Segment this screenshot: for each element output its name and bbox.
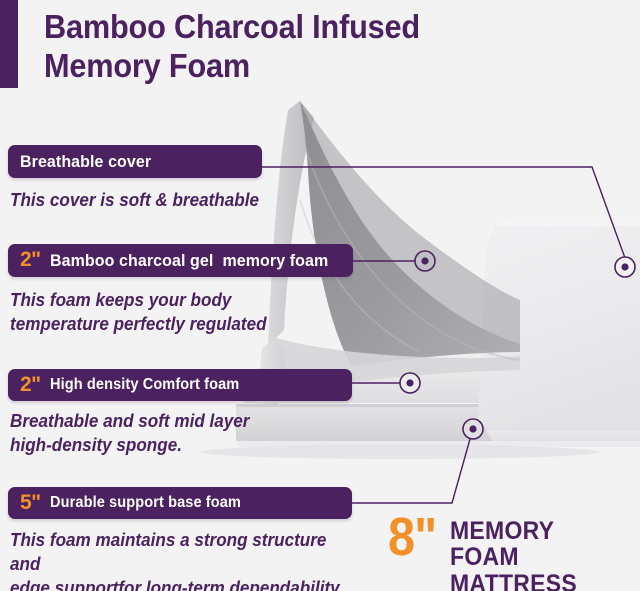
layer-size-badge: 2" bbox=[20, 374, 41, 395]
layer-description-breathable-cover: This cover is soft & breathable bbox=[10, 188, 295, 212]
infographic-canvas: Bamboo Charcoal Infused Memory Foam Brea… bbox=[0, 0, 640, 591]
layer-description-high-density-comfort: Breathable and soft mid layer high-densi… bbox=[10, 409, 295, 457]
layer-label-text: Bamboo charcoal gel memory foam bbox=[50, 251, 328, 271]
product-name-label: MEMORY FOAM MATTRESS bbox=[450, 518, 625, 591]
layer-size-badge: 2" bbox=[20, 249, 41, 270]
layer-description-bamboo-charcoal-gel: This foam keeps your body temperature pe… bbox=[10, 288, 295, 336]
layer-label-text: High density Comfort foam bbox=[50, 376, 239, 394]
left-accent-bar bbox=[0, 0, 18, 88]
page-title: Bamboo Charcoal Infused Memory Foam bbox=[44, 8, 481, 85]
layer-label-durable-support-base[interactable]: 5" Durable support base foam bbox=[8, 487, 352, 519]
layer-marker-base[interactable] bbox=[463, 419, 483, 439]
total-height-callout: 8" MEMORY FOAM MATTRESS bbox=[388, 515, 640, 591]
layer-label-bamboo-charcoal-gel[interactable]: 2" Bamboo charcoal gel memory foam bbox=[8, 244, 353, 277]
layer-description-durable-support-base: This foam maintains a strong structure a… bbox=[10, 528, 352, 591]
layer-label-text: Breathable cover bbox=[20, 152, 151, 172]
layer-label-text: Durable support base foam bbox=[50, 494, 241, 512]
peeled-foam-layer-top bbox=[268, 101, 520, 366]
layer-label-breathable-cover[interactable]: Breathable cover bbox=[8, 145, 262, 178]
layer-marker-gel[interactable] bbox=[415, 251, 435, 271]
layer-size-badge: 5" bbox=[20, 492, 41, 513]
mattress-cover-front-face bbox=[486, 430, 640, 441]
total-height-value: 8" bbox=[388, 515, 436, 559]
layer-label-high-density-comfort[interactable]: 2" High density Comfort foam bbox=[8, 369, 352, 401]
layer-marker-comfort[interactable] bbox=[400, 373, 420, 393]
layer-marker-cover[interactable] bbox=[615, 257, 635, 277]
